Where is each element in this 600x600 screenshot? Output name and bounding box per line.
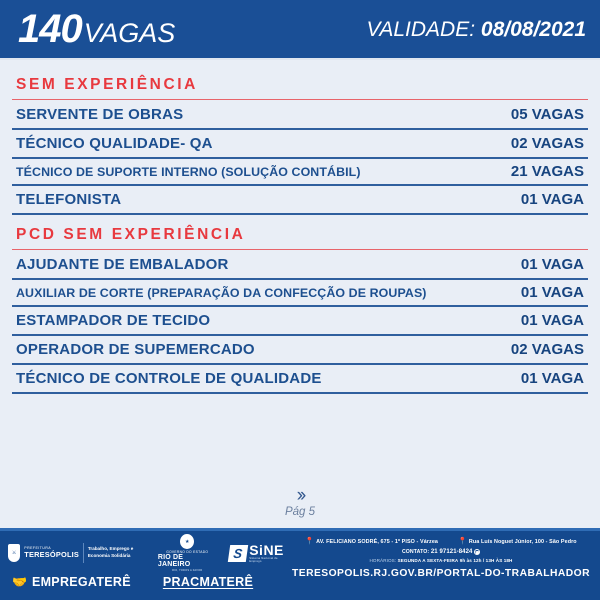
logo-empregatere: 🤝 EMPREGATERÊ [12,575,131,589]
job-vacancy-count: 01 VAGA [521,284,584,301]
program-logos: 🤝 EMPREGATERÊ PRACMATERÊ [8,569,290,595]
rj-state-name: RIO DE JANEIRO [158,554,217,568]
job-title: SERVENTE DE OBRAS [16,106,183,123]
job-vacancy-count: 01 VAGA [521,256,584,273]
location-pin-icon: 📍 [458,538,467,545]
table-row: AUXILIAR DE CORTE (PREPARAÇÃO DA CONFECÇ… [12,280,588,307]
job-title: OPERADOR DE SUPEMERCADO [16,341,255,358]
hours-label: HORÁRIOS: [370,558,397,563]
vacancy-list: SEM EXPERIÊNCIA SERVENTE DE OBRAS 05 VAG… [0,60,600,470]
address-secondary-text: Rua Luís Noguet Júnior, 100 - São Pedro [469,539,577,545]
footer-logos: ⚔ PREFEITURA TERESÓPOLIS Trabalho, Empre… [0,531,290,600]
vacancy-total-label: VAGAS [84,20,176,47]
job-vacancy-count: 05 VAGAS [511,106,584,123]
hours-time: 9h às 12h / 13H ÀS 18H [460,558,513,563]
rj-tagline: RIO, TODOS A FAVOR [172,569,202,572]
job-title: ESTAMPADOR DE TECIDO [16,312,210,329]
job-title: TÉCNICO DE SUPORTE INTERNO (SOLUÇÃO CONT… [16,165,361,179]
empregatere-label: EMPREGATERÊ [32,575,131,589]
job-title: AJUDANTE DE EMBALADOR [16,256,229,273]
contact-line: CONTATO: 21 97121-8424 ☎ [290,549,592,555]
chevron-right-icon: ›› [0,486,600,505]
job-title: TÉCNICO DE CONTROLE DE QUALIDADE [16,370,322,387]
table-row: ESTAMPADOR DE TECIDO 01 VAGA [12,307,588,336]
rj-coat-of-arms-icon: ★ [180,534,194,549]
address-primary: 📍 AV. FELICIANO SODRÉ, 675 - 1º PISO - V… [305,538,438,545]
handshake-icon: 🤝 [12,576,27,588]
section-title-sem-experiencia: SEM EXPERIÊNCIA [12,74,588,100]
coat-of-arms-icon: ⚔ [8,544,20,562]
section-spacer [12,215,588,224]
poster-footer: ⚔ PREFEITURA TERESÓPOLIS Trabalho, Empre… [0,528,600,600]
table-row: AJUDANTE DE EMBALADOR 01 VAGA [12,251,588,280]
job-title: TÉCNICO QUALIDADE- QA [16,135,213,152]
contact-number: 21 97121-8424 [431,549,473,555]
sine-name: SiNE [249,543,290,557]
footer-contact: 📍 AV. FELICIANO SODRÉ, 675 - 1º PISO - V… [290,531,600,600]
address-secondary: 📍 Rua Luís Noguet Júnior, 100 - São Pedr… [458,538,577,545]
secretaria-label: Trabalho, Emprego e Economia Solidária [88,546,146,560]
location-pin-icon: 📍 [305,538,314,545]
job-vacancy-count: 01 VAGA [521,370,584,387]
job-vacancy-count: 21 VAGAS [511,163,584,180]
institutional-logos: ⚔ PREFEITURA TERESÓPOLIS Trabalho, Empre… [8,537,290,569]
hours-days: SEGUNDA A SEXTA-FEIRA [398,558,459,563]
job-vacancy-count: 01 VAGA [521,191,584,208]
logo-sine: S SiNE Sistema Nacional de Emprego [229,543,290,563]
vacancy-total: 140 VAGAS [18,9,175,49]
page-number: Pág 5 [0,506,600,518]
table-row: TÉCNICO DE SUPORTE INTERNO (SOLUÇÃO CONT… [12,159,588,186]
table-row: SERVENTE DE OBRAS 05 VAGAS [12,101,588,130]
sine-mark-icon: S [227,545,247,562]
logo-pracmatere: PRACMATERÊ [163,575,253,589]
logo-divider [83,543,84,563]
validity-label: VALIDADE: [366,18,475,41]
job-title: AUXILIAR DE CORTE (PREPARAÇÃO DA CONFECÇ… [16,286,427,300]
validity-date: 08/08/2021 [481,18,586,41]
table-row: TÉCNICO QUALIDADE- QA 02 VAGAS [12,130,588,159]
validity: VALIDADE: 08/08/2021 [366,19,586,40]
job-vacancy-count: 01 VAGA [521,312,584,329]
prefeitura-name: TERESÓPOLIS [24,551,79,559]
poster-header: 140 VAGAS VALIDADE: 08/08/2021 [0,0,600,60]
section-title-pcd-sem-experiencia: PCD SEM EXPERIÊNCIA [12,224,588,250]
job-vacancy-poster: 140 VAGAS VALIDADE: 08/08/2021 SEM EXPER… [0,0,600,600]
pracmatere-label: PRACMATERÊ [163,575,253,589]
logo-prefeitura-teresopolis: ⚔ PREFEITURA TERESÓPOLIS Trabalho, Empre… [8,543,146,563]
page-indicator: ›› Pág 5 [0,470,600,528]
hours-line: HORÁRIOS: SEGUNDA A SEXTA-FEIRA 9h às 12… [290,558,592,563]
address-line: 📍 AV. FELICIANO SODRÉ, 675 - 1º PISO - V… [290,538,592,545]
portal-url[interactable]: TERESOPOLIS.RJ.GOV.BR/PORTAL-DO-TRABALHA… [290,568,592,579]
job-title: TELEFONISTA [16,191,121,208]
address-primary-text: AV. FELICIANO SODRÉ, 675 - 1º PISO - Vár… [316,539,438,545]
job-vacancy-count: 02 VAGAS [511,341,584,358]
table-row: OPERADOR DE SUPEMERCADO 02 VAGAS [12,336,588,365]
logo-governo-rio-de-janeiro: ★ GOVERNO DO ESTADO RIO DE JANEIRO RIO, … [158,534,217,572]
table-row: TÉCNICO DE CONTROLE DE QUALIDADE 01 VAGA [12,365,588,394]
job-vacancy-count: 02 VAGAS [511,135,584,152]
table-row: TELEFONISTA 01 VAGA [12,186,588,215]
whatsapp-icon: ☎ [474,549,480,555]
contact-label: CONTATO: [402,549,429,555]
vacancy-total-count: 140 [18,9,82,49]
